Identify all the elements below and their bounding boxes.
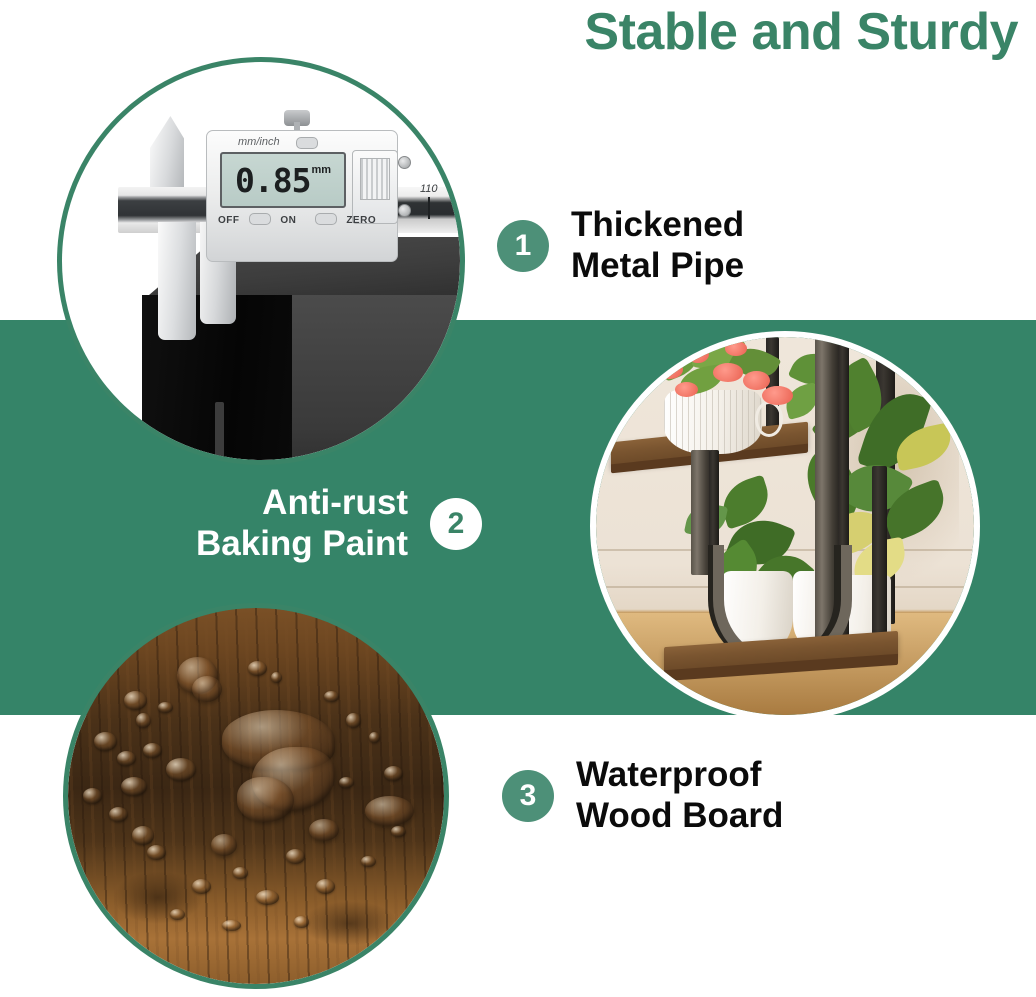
wood-knot	[301, 901, 399, 946]
water-droplet	[211, 834, 237, 857]
product-feature-infographic: Stable and Sturdy 90 100 110	[0, 0, 1036, 997]
water-droplet-small	[117, 751, 136, 766]
feature-row-3: 3 Waterproof Wood Board	[502, 755, 783, 836]
caliper-unit-toggle-label: mm/inch	[238, 136, 280, 148]
caliper-unit-toggle-button[interactable]	[296, 137, 318, 149]
pink-flower	[725, 341, 748, 356]
caliper-grip-grill	[360, 158, 390, 200]
digital-caliper: 90 100 110 mm/inch 0.85 mm	[114, 92, 460, 322]
caliper-lower-jaw-left	[158, 222, 196, 340]
page-title: Stable and Sturdy	[584, 2, 1018, 62]
water-droplet-small	[147, 845, 166, 860]
water-droplet-small	[192, 879, 211, 894]
caliper-lcd-display: 0.85 mm	[220, 152, 346, 208]
feature-image-waterproof-wood-board	[68, 608, 444, 984]
water-droplet-small	[166, 758, 196, 781]
caliper-zero-button[interactable]	[315, 213, 337, 225]
caliper-photo: 90 100 110 mm/inch 0.85 mm	[62, 62, 460, 460]
water-droplet-small	[136, 713, 151, 728]
water-droplet-small	[316, 879, 335, 894]
caliper-on-label: ON	[280, 215, 296, 226]
feature-badge-3: 3	[502, 770, 554, 822]
water-droplet-small	[256, 890, 279, 905]
water-droplet-small	[294, 916, 309, 927]
feature-badge-1: 1	[497, 220, 549, 272]
water-droplet-small	[94, 732, 117, 751]
water-puddle-large	[237, 777, 293, 822]
water-droplet	[192, 676, 222, 702]
feature-row-1: 1 Thickened Metal Pipe	[497, 205, 744, 286]
plant-stand-photo	[596, 337, 974, 715]
wood-knot	[113, 871, 203, 924]
flower-pot-top	[664, 390, 762, 454]
caliper-zero-label: ZERO	[346, 215, 376, 226]
caliper-button-row: OFF ON ZERO	[218, 210, 376, 228]
caliper-off-label: OFF	[218, 215, 240, 226]
water-droplet-small	[83, 788, 102, 803]
feature-image-thickened-metal-pipe: 90 100 110 mm/inch 0.85 mm	[62, 62, 460, 460]
feature-label-1: Thickened Metal Pipe	[571, 205, 744, 286]
scale-tick-mark	[428, 197, 430, 219]
wood-board-photo	[68, 608, 444, 984]
frame-post-right	[872, 466, 887, 655]
water-droplet-small	[233, 867, 248, 878]
feature-image-anti-rust-baking-paint	[596, 337, 974, 715]
water-droplet-small	[248, 661, 267, 676]
caliper-power-button[interactable]	[249, 213, 271, 225]
pink-flower	[762, 386, 792, 405]
feature-label-2: Anti-rust Baking Paint	[196, 483, 408, 564]
pink-flower	[656, 360, 682, 379]
water-droplet-small	[170, 909, 185, 920]
feature-badge-2: 2	[430, 498, 482, 550]
water-droplet-small	[286, 849, 305, 864]
feature-label-3: Waterproof Wood Board	[576, 755, 783, 836]
water-droplet-small	[384, 766, 403, 781]
caliper-screw-top	[398, 156, 411, 169]
water-droplet	[365, 796, 414, 826]
water-droplet-small	[132, 826, 155, 845]
water-droplet-small	[121, 777, 147, 796]
scale-tick-label: 110	[420, 183, 438, 195]
caliper-screw-bottom	[398, 204, 411, 217]
water-droplet-small	[324, 691, 339, 702]
caliper-upper-jaw	[150, 116, 184, 196]
feature-row-2: Anti-rust Baking Paint 2	[196, 483, 482, 564]
caliper-measurement-unit: mm	[311, 164, 331, 176]
tube-left-edge	[215, 402, 224, 460]
water-droplet-small	[124, 691, 147, 710]
caliper-measurement-value: 0.85	[235, 161, 310, 200]
water-droplet	[309, 819, 339, 842]
pink-flower	[743, 371, 769, 390]
